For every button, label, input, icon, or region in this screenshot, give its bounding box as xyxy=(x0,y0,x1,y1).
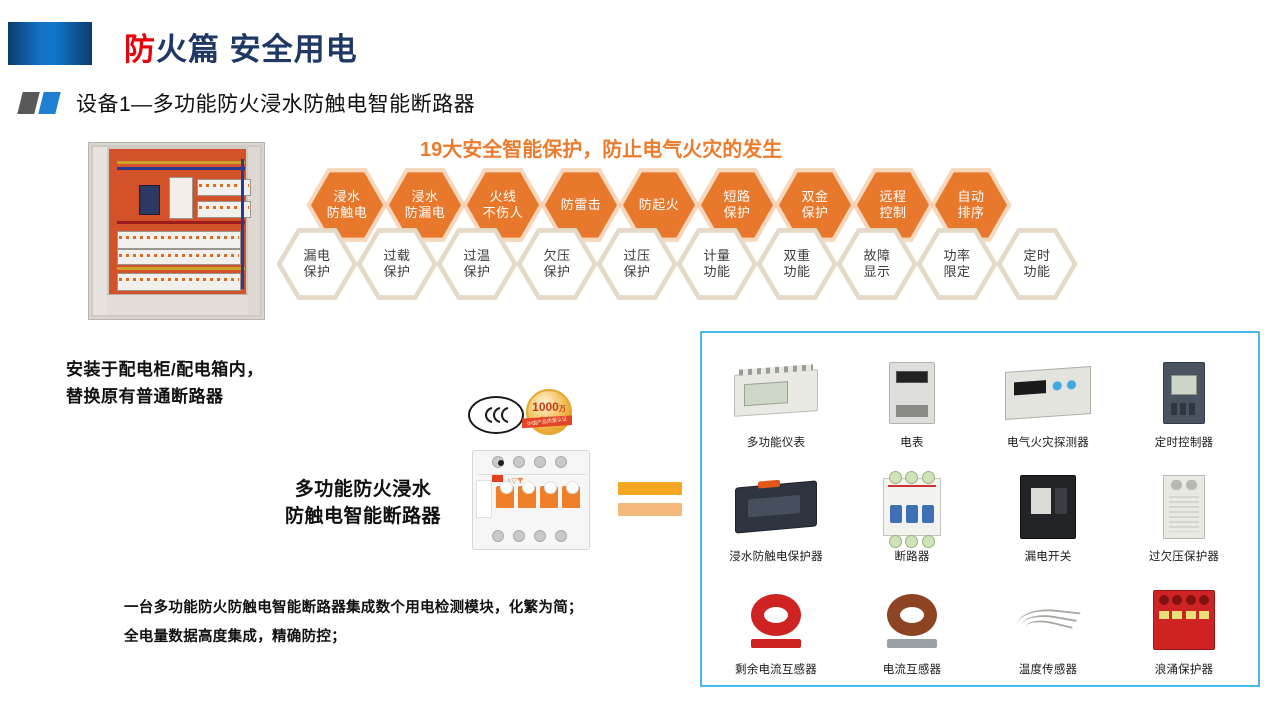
feature-label: 功率 限定 xyxy=(943,248,970,280)
feature-hex-10[interactable]: 定时 功能 xyxy=(1000,230,1074,298)
feature-label: 定时 功能 xyxy=(1023,248,1050,280)
install-note-line1: 安装于配电柜/配电箱内， xyxy=(66,356,264,383)
device-caption: 剩余电流互感器 xyxy=(735,661,817,677)
device-caption: 过欠压保护器 xyxy=(1149,548,1219,564)
device-cell-4[interactable]: 定时控制器 xyxy=(1116,339,1252,452)
feature-label: 欠压 保护 xyxy=(543,248,570,280)
device-caption: 电表 xyxy=(900,434,923,450)
device-caption: 定时控制器 xyxy=(1155,434,1214,450)
device-cell-1[interactable]: 多功能仪表 xyxy=(708,339,844,452)
device-cell-9[interactable]: 剩余电流互感器 xyxy=(708,566,844,679)
product-name-line1: 多功能防火浸水 xyxy=(268,476,458,503)
ccc-certification-icon xyxy=(468,396,524,434)
section-heading: 设备1—多功能防火浸水防触电智能断路器 xyxy=(20,88,475,118)
device-caption: 温度传感器 xyxy=(1019,661,1078,677)
feature-label: 防雷击 xyxy=(561,197,602,213)
feature-row-secondary: 漏电 保护过载 保护过温 保护欠压 保护过压 保护计量 功能双重 功能故障 显示… xyxy=(280,230,1074,298)
device-caption: 断路器 xyxy=(894,548,929,564)
page-title-red: 防 xyxy=(124,32,156,67)
double-parallelogram-icon xyxy=(20,92,66,114)
feature-hex-7[interactable]: 双重 功能 xyxy=(760,230,834,298)
feature-hex-6[interactable]: 计量 功能 xyxy=(680,230,754,298)
feature-hex-4[interactable]: 欠压 保护 xyxy=(520,230,594,298)
residual-ct-icon xyxy=(708,584,844,656)
device-cell-11[interactable]: 温度传感器 xyxy=(980,566,1116,679)
feature-label: 双重 功能 xyxy=(783,248,810,280)
feature-label: 过载 保护 xyxy=(383,248,410,280)
bottom-note-line1: 一台多功能防火防触电智能断路器集成数个用电检测模块，化繁为简； xyxy=(124,594,583,623)
electric-meter-icon xyxy=(844,357,980,429)
feature-label: 浸水 防漏电 xyxy=(405,189,446,221)
headline-text: 19大安全智能保护，防止电气火灾的发生 xyxy=(420,133,782,162)
feature-hex-1[interactable]: 漏电 保护 xyxy=(280,230,354,298)
device-cell-3[interactable]: 电气火灾探测器 xyxy=(980,339,1116,452)
bottom-note-line2: 全电量数据高度集成，精确防控； xyxy=(124,623,583,652)
feature-label: 自动 排序 xyxy=(957,189,984,221)
multifunction-meter-icon xyxy=(708,357,844,429)
page-title: 防火篇 安全用电 xyxy=(124,24,358,69)
feature-label: 计量 功能 xyxy=(703,248,730,280)
medal-unit: 万 xyxy=(559,406,566,413)
feature-hex-5[interactable]: 过压 保护 xyxy=(600,230,674,298)
slide-root: 防火篇 安全用电 设备1—多功能防火浸水防触电智能断路器 xyxy=(0,0,1280,720)
feature-hex-9[interactable]: 功率 限定 xyxy=(920,230,994,298)
water-protector-icon xyxy=(708,471,844,543)
mcb-icon xyxy=(844,471,980,543)
feature-label: 过压 保护 xyxy=(623,248,650,280)
install-note: 安装于配电柜/配电箱内， 替换原有普通断路器 xyxy=(66,356,264,410)
timer-controller-icon xyxy=(1116,357,1252,429)
device-caption: 漏电开关 xyxy=(1025,548,1072,564)
feature-label: 故障 显示 xyxy=(863,248,890,280)
device-caption: 电流互感器 xyxy=(883,661,942,677)
medal-number: 1000 xyxy=(532,400,559,414)
distribution-cabinet-photo xyxy=(88,142,265,320)
header-accent-block xyxy=(8,22,92,65)
feature-label: 防起火 xyxy=(639,197,680,213)
product-name: 多功能防火浸水 防触电智能断路器 xyxy=(268,476,458,530)
feature-hex-8[interactable]: 故障 显示 xyxy=(840,230,914,298)
device-cell-10[interactable]: 电流互感器 xyxy=(844,566,980,679)
over-under-voltage-icon xyxy=(1116,471,1252,543)
device-cell-6[interactable]: 断路器 xyxy=(844,452,980,565)
feature-label: 远程 控制 xyxy=(879,189,906,221)
feature-label: 过温 保护 xyxy=(463,248,490,280)
device-cell-12[interactable]: 浪涌保护器 xyxy=(1116,566,1252,679)
device-cell-7[interactable]: 漏电开关 xyxy=(980,452,1116,565)
page-title-rest: 火篇 安全用电 xyxy=(156,32,358,67)
device-caption: 浪涌保护器 xyxy=(1155,661,1214,677)
feature-label: 双金 保护 xyxy=(801,189,828,221)
equals-sign-icon xyxy=(618,482,682,516)
equivalent-devices-panel: 多功能仪表电表电气火灾探测器定时控制器浸水防触电保护器断路器漏电开关过欠压保护器… xyxy=(700,331,1260,687)
feature-label: 漏电 保护 xyxy=(303,248,330,280)
device-cell-8[interactable]: 过欠压保护器 xyxy=(1116,452,1252,565)
bottom-note: 一台多功能防火防触电智能断路器集成数个用电检测模块，化繁为简； 全电量数据高度集… xyxy=(124,594,583,652)
section-heading-label: 设备1—多功能防火浸水防触电智能断路器 xyxy=(76,88,475,118)
device-caption: 多功能仪表 xyxy=(747,434,806,450)
device-cell-5[interactable]: 浸水防触电保护器 xyxy=(708,452,844,565)
temperature-sensor-icon xyxy=(980,584,1116,656)
feature-label: 浸水 防触电 xyxy=(327,189,368,221)
product-name-line2: 防触电智能断路器 xyxy=(268,503,458,530)
device-caption: 浸水防触电保护器 xyxy=(729,548,823,564)
feature-hex-3[interactable]: 过温 保护 xyxy=(440,230,514,298)
current-transformer-icon xyxy=(844,584,980,656)
install-note-line2: 替换原有普通断路器 xyxy=(66,383,264,410)
rcd-switch-icon xyxy=(980,471,1116,543)
feature-label: 短路 保护 xyxy=(723,189,750,221)
feature-hex-2[interactable]: 过载 保护 xyxy=(360,230,434,298)
fire-detector-icon xyxy=(980,357,1116,429)
smart-breaker-image: △▽〒 xyxy=(472,450,590,550)
device-caption: 电气火灾探测器 xyxy=(1007,434,1089,450)
feature-label: 火线 不伤人 xyxy=(483,189,524,221)
device-cell-2[interactable]: 电表 xyxy=(844,339,980,452)
surge-protector-icon xyxy=(1116,584,1252,656)
quality-medal-badge: 1000万 ★★★ 中国产品质量认证 xyxy=(522,389,572,439)
